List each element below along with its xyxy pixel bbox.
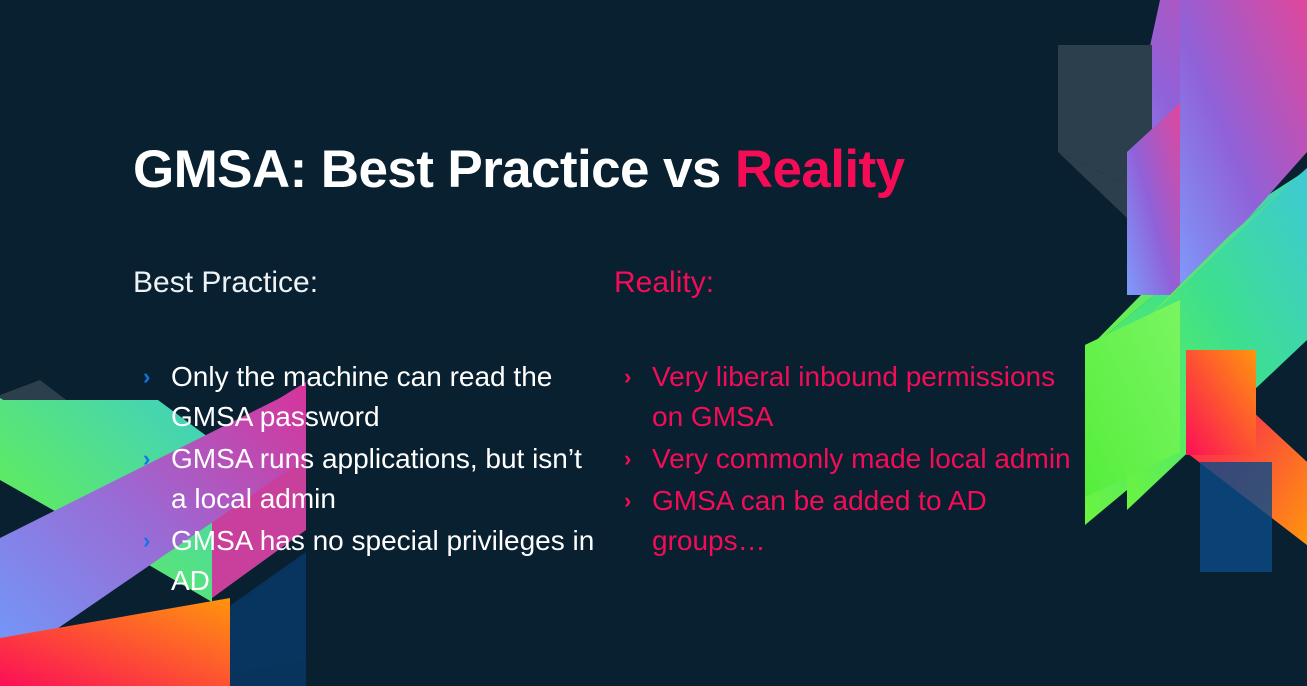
slide-title-main: GMSA: Best Practice vs xyxy=(133,140,735,199)
list-item: › Only the machine can read the GMSA pas… xyxy=(133,357,603,437)
list-item-label: Very liberal inbound permissions on GMSA xyxy=(652,357,1074,437)
deco-bl-red-orange-2 xyxy=(0,598,230,686)
chevron-right-icon: › xyxy=(133,439,171,479)
deco-gradient-band-green-teal-2 xyxy=(1085,170,1307,352)
list-item: › Very commonly made local admin xyxy=(614,439,1074,479)
deco-gradient-band-green-teal xyxy=(1085,170,1307,525)
deco-slate-block xyxy=(1058,45,1152,197)
slide-title: GMSA: Best Practice vs Reality xyxy=(133,142,904,198)
deco-dark-slate-chevron xyxy=(1058,45,1152,196)
list-item: › GMSA has no special privileges in AD xyxy=(133,521,603,601)
chevron-right-icon: › xyxy=(614,481,652,521)
deco-red-orange-chevron xyxy=(1186,350,1307,545)
list-item: › GMSA runs applications, but isn’t a lo… xyxy=(133,439,603,519)
list-item: › Very liberal inbound permissions on GM… xyxy=(614,357,1074,437)
list-item-label: GMSA runs applications, but isn’t a loca… xyxy=(171,439,603,519)
reality-bullet-list: › Very liberal inbound permissions on GM… xyxy=(614,357,1074,561)
deco-bl-red-orange xyxy=(0,600,228,686)
deco-green-parallelogram xyxy=(1085,300,1180,497)
deco-pinkblue-parallelogram xyxy=(1180,0,1307,295)
deco-right-bottom-group xyxy=(1085,300,1307,572)
chevron-right-icon: › xyxy=(614,439,652,479)
deco-slate-block-lower xyxy=(1058,152,1152,218)
deco-top-right-chevron-shapes xyxy=(1058,0,1307,510)
chevron-right-icon: › xyxy=(133,357,171,397)
deco-dark-slate-chevron-2 xyxy=(1058,45,1152,196)
list-item: › GMSA can be added to AD groups… xyxy=(614,481,1074,561)
best-practice-column: Best Practice: › Only the machine can re… xyxy=(133,266,603,603)
list-item-label: Only the machine can read the GMSA passw… xyxy=(171,357,603,437)
deco-green-parallelogram-2 xyxy=(1085,300,1180,497)
deco-pinkblue-leg xyxy=(1127,103,1180,295)
best-practice-bullet-list: › Only the machine can read the GMSA pas… xyxy=(133,357,603,601)
deco-top-right-group xyxy=(1058,0,1307,525)
chevron-right-icon: › xyxy=(614,357,652,397)
reality-column: Reality: › Very liberal inbound permissi… xyxy=(614,266,1074,563)
deco-gradient-band-pink-purple-tail xyxy=(1127,0,1307,295)
deco-greenteal-upper xyxy=(1127,168,1307,338)
reality-heading: Reality: xyxy=(614,266,1074,301)
list-item-label: Very commonly made local admin xyxy=(652,439,1071,479)
deco-darkblue-overlay xyxy=(1200,462,1272,572)
chevron-right-icon: › xyxy=(133,521,171,561)
deco-greenteal-parallelogram xyxy=(1127,168,1307,510)
list-item-label: GMSA can be added to AD groups… xyxy=(652,481,1074,561)
slide-title-accent: Reality xyxy=(735,140,905,199)
deco-red-orange-block xyxy=(1186,350,1256,455)
deco-gradient-band-pink-purple xyxy=(1127,0,1307,295)
list-item-label: GMSA has no special privileges in AD xyxy=(171,521,603,601)
deco-lightblue-facet xyxy=(1127,152,1180,225)
presentation-slide: GMSA: Best Practice vs Reality Best Prac… xyxy=(0,0,1307,686)
deco-red-orange-chevron-upper xyxy=(1186,350,1307,545)
best-practice-heading: Best Practice: xyxy=(133,266,603,301)
